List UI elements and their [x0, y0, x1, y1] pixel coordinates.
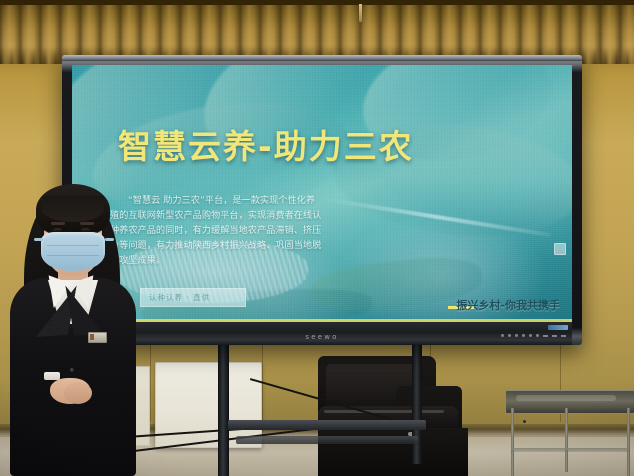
- control-button-bar[interactable]: [561, 335, 566, 337]
- slide-body-line: 贫攻坚成果。: [110, 253, 400, 268]
- control-button-dot[interactable]: [515, 334, 518, 337]
- display-stand-crossbar: [228, 420, 426, 430]
- presenter: [8, 182, 138, 476]
- table-mark: [523, 420, 526, 423]
- table-top: [505, 390, 634, 414]
- display-stand-leg: [412, 344, 422, 464]
- slide-tagline: 振兴乡村-你我共携手: [456, 297, 560, 313]
- slide-body-text: “智慧云 助力三农”平台，是一款实现个性化养 殖的互联网新型农产品购物平台，实现…: [110, 193, 400, 268]
- curtain-rod: [0, 0, 634, 5]
- control-button-bar[interactable]: [552, 335, 557, 337]
- display-stand-leg: [218, 344, 229, 476]
- eyebrow: [80, 222, 94, 225]
- slide-title: 智慧云养-助力三农: [118, 120, 414, 168]
- table-glass-reflection: [516, 395, 616, 401]
- display-stand-base: [236, 436, 418, 444]
- hair-fringe: [42, 196, 104, 222]
- panel-top-edge: [62, 55, 582, 61]
- panel-status-indicator: [548, 325, 568, 330]
- mask-ear-strap: [34, 238, 43, 241]
- mask-ear-strap: [105, 238, 114, 241]
- table-lower-shelf: [511, 448, 629, 452]
- jacket-button: [70, 368, 74, 372]
- table-leg: [627, 408, 630, 476]
- control-button-dot[interactable]: [536, 334, 539, 337]
- curtain-tieback: [359, 4, 362, 22]
- bezel-control-buttons[interactable]: [501, 334, 566, 337]
- name-badge: [88, 332, 107, 343]
- panel-brand-logo: seewo: [305, 333, 338, 341]
- interactive-flat-panel[interactable]: 智慧云养-助力三农 “智慧云 助力三农”平台，是一款实现个性化养 殖的互联网新型…: [62, 55, 582, 345]
- slide-body-line: 种养农产品的同时，有力缓解当地农产品滞销、挤压: [110, 223, 400, 238]
- control-button-dot[interactable]: [529, 334, 532, 337]
- slide-callout-text: 认种认养 · 直供: [149, 292, 210, 303]
- slide-callout-box: 认种认养 · 直供: [140, 288, 246, 307]
- glass-side-table: [505, 390, 633, 476]
- control-button-dot[interactable]: [501, 334, 504, 337]
- clasped-hands: [64, 382, 92, 404]
- eyebrow: [51, 222, 65, 225]
- panel-screen[interactable]: 智慧云养-助力三农 “智慧云 助力三农”平台，是一款实现个性化养 殖的互联网新型…: [72, 65, 572, 322]
- control-button-dot[interactable]: [522, 334, 525, 337]
- slide-body-line: 殖的互联网新型农产品购物平台，实现消费者在线认: [110, 208, 400, 223]
- photo-scene: 智慧云养-助力三农 “智慧云 助力三农”平台，是一款实现个性化养 殖的互联网新型…: [0, 0, 634, 476]
- slide-body-line: 价等问题，有力推动陕西乡村振兴战略、巩固当地脱: [110, 238, 400, 253]
- control-button-bar[interactable]: [543, 335, 548, 337]
- slide-corner-badge-icon: [554, 243, 566, 255]
- table-leg: [565, 408, 568, 472]
- blue-surgical-mask: [41, 232, 105, 271]
- table-leg: [511, 408, 514, 476]
- sofa-highlight: [324, 410, 444, 413]
- control-button-dot[interactable]: [508, 334, 511, 337]
- badge-photo: [90, 334, 94, 340]
- slide-body-line: “智慧云 助力三农”平台，是一款实现个性化养: [110, 193, 400, 208]
